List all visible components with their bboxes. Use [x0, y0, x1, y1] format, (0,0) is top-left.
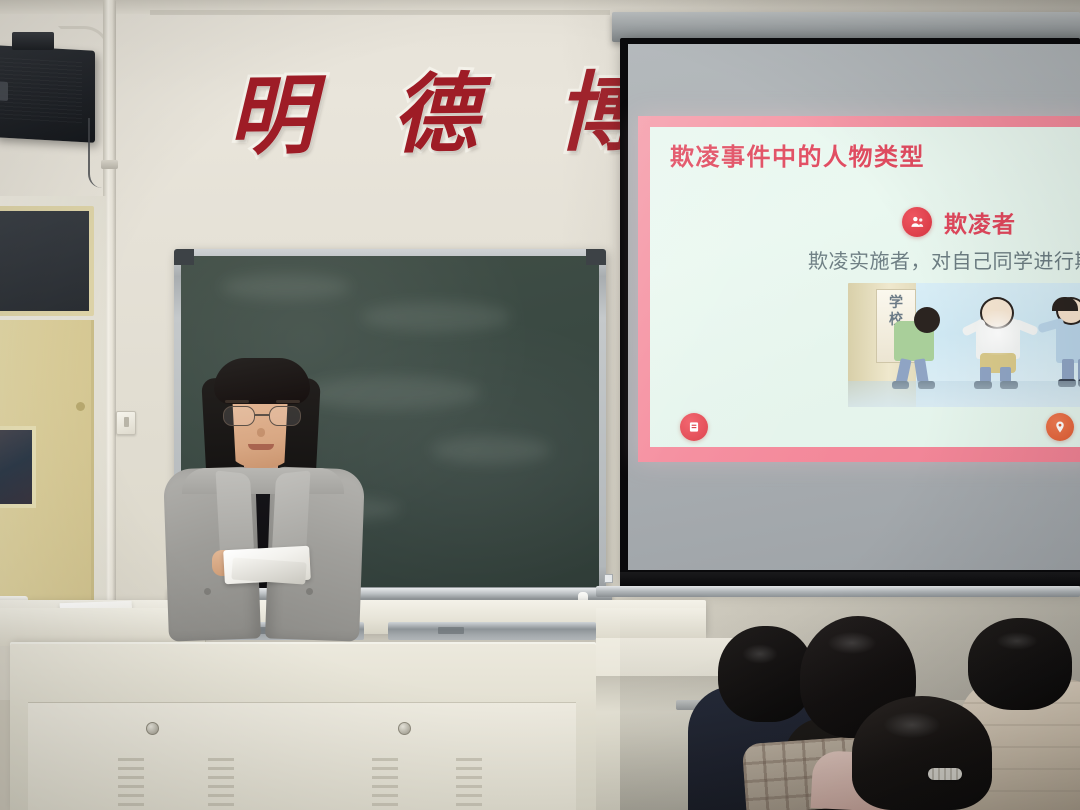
presenter-eyebrow-left	[225, 400, 249, 403]
speaker-grill	[0, 58, 82, 125]
illustration-figure-green	[890, 305, 946, 389]
illustration-impact-burst	[972, 311, 1024, 355]
glasses-lens-right	[269, 406, 301, 426]
illustration-figure-blue	[1050, 297, 1080, 389]
slide-content-area: 欺凌事件中的人物类型 欺凌者 欺凌实施者，对自己同学进行欺凌 学	[650, 127, 1080, 447]
slide-heading-text: 欺凌者	[944, 205, 1016, 239]
illustration-ground	[848, 381, 1080, 407]
coat-button-left	[204, 588, 211, 595]
presenter-lapel-left	[216, 470, 255, 559]
coat-button-right	[306, 588, 313, 595]
projector-screen-bottom-bar	[620, 572, 1080, 586]
door-knob[interactable]	[76, 402, 85, 411]
projected-slide: 欺凌事件中的人物类型 欺凌者 欺凌实施者，对自己同学进行欺凌 学	[638, 116, 1080, 462]
chalkboard-corner-left	[174, 249, 194, 265]
conduit-joint	[101, 160, 118, 169]
presenter	[152, 352, 368, 640]
glasses-lens-left	[223, 406, 255, 426]
slide-illustration: 学 校	[848, 283, 1080, 407]
student-navy-hair-highlight	[742, 644, 778, 664]
door-vision-panel	[0, 426, 36, 508]
projector-screen-rail	[596, 586, 1080, 597]
glasses-bridge	[255, 414, 269, 416]
speaker-bracket	[12, 32, 54, 50]
hair-clip	[928, 768, 962, 780]
motto-char-2: 德	[392, 72, 479, 159]
motto-char-1: 明	[228, 73, 315, 160]
speaker-badge	[0, 81, 8, 101]
presenter-nose	[257, 428, 265, 437]
presenter-mouth	[248, 444, 274, 450]
ceiling-line-secondary	[150, 10, 610, 15]
glasses-icon	[222, 406, 302, 426]
slide-title: 欺凌事件中的人物类型	[670, 137, 925, 172]
student-center-hair-highlight	[828, 632, 876, 654]
student-cream-hair-highlight	[996, 632, 1038, 650]
slide-badge-left-icon	[680, 413, 708, 441]
light-switch[interactable]	[116, 411, 136, 435]
classroom-scene: 明 德 博 欺凌事件中的人物类型	[0, 0, 1080, 810]
student-audience	[0, 600, 1080, 810]
student-front-hair-highlight	[884, 712, 940, 738]
presenter-eyebrow-right	[276, 400, 300, 403]
slide-body-text: 欺凌实施者，对自己同学进行欺凌	[808, 245, 1080, 274]
presenter-coat-shoulders	[182, 468, 344, 494]
slide-heading-row: 欺凌者	[902, 205, 1016, 239]
bully-person-icon	[902, 207, 932, 237]
presenter-hair-fringe	[214, 358, 310, 404]
door-transom-window	[0, 206, 94, 316]
slide-badge-right-icon	[1046, 413, 1074, 441]
tray-clip	[604, 574, 613, 583]
chalkboard-corner-right	[586, 249, 606, 265]
